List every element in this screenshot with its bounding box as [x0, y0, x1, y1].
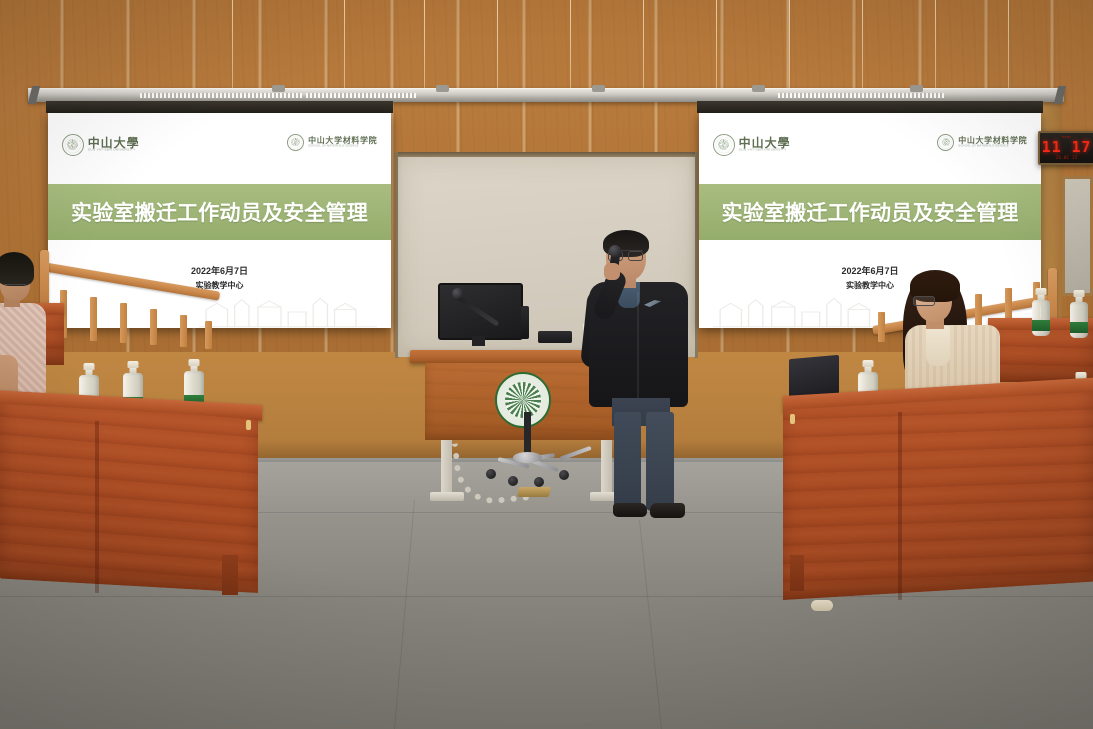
university-seal-icon: [62, 134, 84, 156]
slide-org: 实验教学中心: [846, 280, 894, 291]
university-seal-icon: [713, 134, 735, 156]
left-desk-leg: [222, 555, 238, 595]
university-logo: 中山大學 SUN YAT-SEN UNIVERSITY: [62, 134, 140, 156]
presenter-hand: [604, 263, 620, 280]
rail-clip: [752, 85, 765, 92]
suspension-wire: [424, 0, 425, 90]
bottle-cap: [1036, 288, 1047, 295]
skyline-watermark-icon: [713, 291, 891, 328]
right-railing-baluster: [878, 312, 885, 342]
university-logo: 中山大學 SUN YAT-SEN UNIVERSITY: [713, 134, 791, 156]
university-name-en: SUN YAT-SEN UNIVERSITY: [739, 149, 791, 152]
school-name-en: SCHOOL OF MATERIALS SCIENCE: [308, 145, 377, 147]
presenter-jacket-zipper: [637, 292, 639, 404]
slide-header: 中山大學 SUN YAT-SEN UNIVERSITY 中山大学材料学院 SCH…: [699, 113, 1041, 184]
suspension-wire: [570, 0, 571, 90]
microphone-head-icon: [609, 245, 621, 257]
water-bottle: [1070, 290, 1088, 338]
university-name-cn: 中山大學: [739, 137, 791, 149]
rail-clip: [910, 85, 923, 92]
suspension-wire: [789, 0, 790, 90]
right-desk-leg: [790, 555, 804, 591]
left-railing-baluster: [180, 315, 187, 347]
right-attendee-glasses-icon: [913, 296, 935, 306]
school-seal-icon: [287, 134, 304, 151]
chair-post: [524, 412, 531, 457]
slide-title: 实验室搬迁工作动员及安全管理: [71, 197, 368, 227]
presenter-left-shoe: [613, 503, 647, 517]
right-projection-screen[interactable]: 中山大學 SUN YAT-SEN UNIVERSITY 中山大学材料学院 SCH…: [699, 113, 1041, 328]
chair-wheel: [486, 469, 496, 479]
podium-leg-right: [601, 440, 612, 495]
left-desk-panel-divider: [95, 421, 99, 593]
rail-vent-right: [778, 93, 944, 98]
university-name-cn: 中山大學: [88, 137, 140, 149]
suspension-wire: [344, 0, 345, 90]
slide-date: 2022年6月7日: [841, 264, 898, 277]
bottle-cap: [84, 363, 95, 370]
bottle-cap: [189, 359, 200, 366]
slide-right: 中山大學 SUN YAT-SEN UNIVERSITY 中山大学材料学院 SCH…: [699, 113, 1041, 328]
right-front-desk-front: [783, 392, 1093, 600]
right-attendee-cardigan-lapel: [926, 326, 950, 366]
slide-footer: 2022年6月7日 实验教学中心: [699, 240, 1041, 328]
clock-time-display: 11 17: [1042, 140, 1092, 155]
bottle-cap: [128, 361, 139, 368]
slide-title-band: 实验室搬迁工作动员及安全管理: [699, 184, 1041, 240]
right-screen-housing: [697, 101, 1043, 113]
rail-vent-left: [140, 93, 302, 98]
school-logo: 中山大学材料学院 SCHOOL OF MATERIALS SCIENCE: [287, 134, 377, 151]
bottle-body: [1070, 302, 1088, 338]
rail-vent-left2: [306, 93, 416, 98]
suspension-wire: [935, 0, 936, 90]
skyline-watermark-icon: [199, 291, 377, 328]
floor-seam: [0, 596, 1093, 597]
left-railing-baluster: [90, 297, 97, 341]
university-emblem-icon: [495, 372, 551, 428]
water-bottle: [1032, 288, 1050, 336]
school-logo: 中山大学材料学院 SCHOOL OF MATERIALS SCIENCE: [937, 134, 1027, 151]
podium-foot-left: [430, 492, 464, 501]
left-railing-baluster: [205, 321, 212, 349]
podium-leg-left: [441, 440, 452, 495]
right-attendee-shoe: [811, 600, 833, 611]
podium-control-box: [538, 331, 572, 343]
window-frame-right: [1062, 176, 1093, 296]
slide-header: 中山大學 SUN YAT-SEN UNIVERSITY 中山大学材料学院 SCH…: [48, 113, 391, 184]
bottle-body: [1032, 300, 1050, 336]
bottle-cap: [863, 360, 874, 367]
left-screen-housing: [46, 101, 393, 113]
presenter-right-leg: [646, 412, 674, 511]
bottle-label: [1032, 320, 1050, 331]
slide-date: 2022年6月7日: [191, 264, 248, 277]
slide-title-band: 实验室搬迁工作动员及安全管理: [48, 184, 391, 240]
university-name-en: SUN YAT-SEN UNIVERSITY: [88, 149, 140, 152]
presenter-right-shoe: [650, 503, 685, 518]
rail-clip: [592, 85, 605, 92]
school-name-en: SCHOOL OF MATERIALS SCIENCE: [958, 145, 1027, 147]
suspension-wire: [497, 0, 498, 90]
chair-wheel: [534, 477, 544, 487]
rail-clip: [436, 85, 449, 92]
slide-footer: 2022年6月7日 实验教学中心: [48, 240, 391, 328]
left-desk-edge-clip: [246, 420, 251, 430]
right-desk-edge-clip: [790, 414, 795, 424]
rail-clip: [272, 85, 285, 92]
presenter-left-leg: [614, 412, 641, 511]
right-desk-panel-divider: [898, 412, 902, 600]
suspension-wire: [862, 0, 863, 90]
chair-base-hub: [513, 452, 542, 463]
clock-secondary-display: 26.8C 15: [1056, 157, 1078, 162]
floor-power-outlet: [517, 487, 551, 497]
lecture-hall-photo: 中山大學 SUN YAT-SEN UNIVERSITY 中山大学材料学院 SCH…: [0, 0, 1093, 729]
suspension-wire: [716, 0, 717, 90]
digital-wall-clock: ▪▪▪▪ 11 17 26.8C 15: [1038, 131, 1093, 165]
chair-wheel: [508, 476, 518, 486]
left-front-desk-front: [0, 404, 258, 593]
monitor-stand: [472, 336, 485, 346]
suspension-wire: [643, 0, 644, 90]
left-attendee-hair: [0, 252, 34, 286]
bottle-cap: [1074, 290, 1085, 297]
podium-speaker-box: [521, 306, 529, 339]
slide-title: 实验室搬迁工作动员及安全管理: [722, 197, 1019, 227]
suspension-wire: [1008, 0, 1009, 90]
left-railing-baluster: [120, 303, 127, 343]
suspension-wire: [232, 0, 233, 90]
school-seal-icon: [937, 134, 954, 151]
left-railing-baluster: [150, 309, 157, 345]
bottle-label: [1070, 322, 1088, 333]
left-attendee-glasses-icon: [4, 284, 26, 292]
chair-wheel: [559, 470, 569, 480]
podium-microphone-icon: [452, 288, 463, 299]
